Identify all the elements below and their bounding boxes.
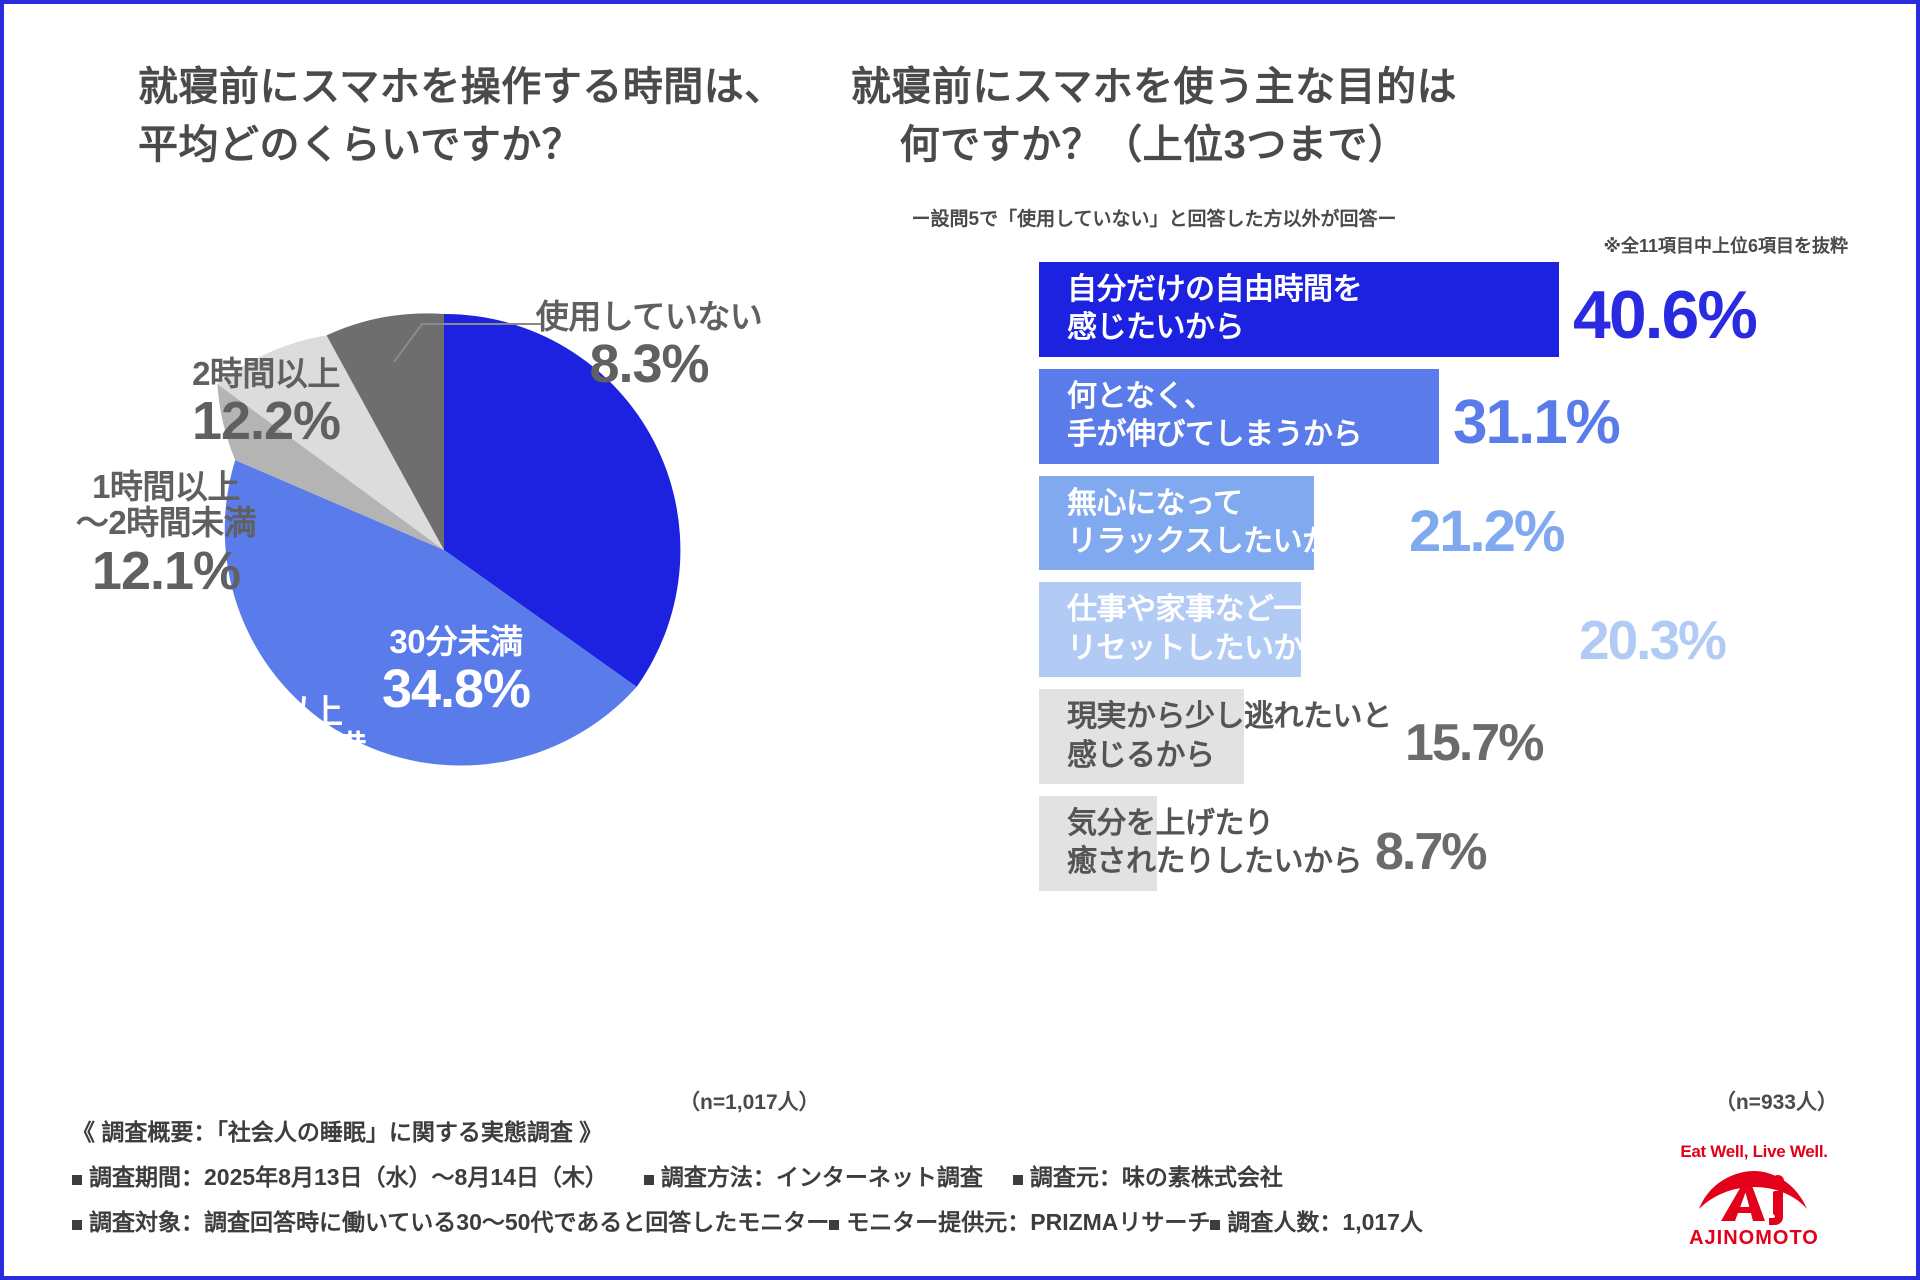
left-title-line1: 就寝前にスマホを操作する時間は、 [138, 58, 785, 116]
pie-label-30to60: 30分以上 ～1時間未満 32.6% [186, 694, 366, 826]
bullet-square-icon [1013, 1175, 1023, 1185]
bar-row-1: 自分だけの自由時間を 感じたいから 40.6% [1039, 262, 1894, 357]
right-subnote-1: ー設問5で「使用していない」と回答した方以外が回答ー [912, 204, 1397, 231]
right-question-title: 就寝前にスマホを使う主な目的は 何ですか？（上位3つまで） [851, 58, 1457, 174]
bar-value-2: 31.1% [1453, 387, 1619, 458]
bar-label-2: 何となく、 手が伸びてしまうから [1067, 378, 1362, 455]
pie-label-1to2: 1時間以上 ～2時間未満 12.1% [76, 469, 256, 601]
bar-row-3: 無心になって リラックスしたいから 21.2% [1039, 476, 1894, 571]
bar-value-6: 8.7% [1375, 822, 1486, 882]
footer-respondents: 調査人数：1,017人 [1210, 1203, 1423, 1237]
pie-label-30min: 30分未満 34.8% [382, 624, 530, 720]
bar-chart: 自分だけの自由時間を 感じたいから 40.6% 何となく、 手が伸びてしまうから… [1039, 262, 1894, 903]
pie-label-none: 使用していない 8.3% [536, 299, 763, 395]
infographic-page: 就寝前にスマホを操作する時間は、 平均どのくらいですか？ 就寝前にスマホを使う主… [0, 0, 1920, 1280]
bullet-square-icon [72, 1220, 82, 1230]
right-subnote-2: ※全11項目中上位6項目を抜粋 [1603, 232, 1848, 258]
bar-fill-2: 何となく、 手が伸びてしまうから [1039, 369, 1439, 464]
footer-period: 調査期間：2025年8月13日（水）～8月14日（木） [72, 1158, 608, 1192]
bar-label-5: 現実から少し逃れたいと 感じるから [1067, 698, 1392, 775]
footer-method: 調査方法：インターネット調査 [644, 1158, 983, 1192]
right-title-line2: 何ですか？（上位3つまで） [851, 116, 1457, 174]
bar-fill-1: 自分だけの自由時間を 感じたいから [1039, 262, 1559, 357]
bar-fill-4: 仕事や家事など一日のストレスを リセットしたいから [1039, 582, 1301, 677]
right-title-line1: 就寝前にスマホを使う主な目的は [851, 58, 1457, 116]
bar-value-3: 21.2% [1409, 498, 1563, 565]
bar-value-4: 20.3% [1579, 608, 1725, 672]
bullet-square-icon [1210, 1220, 1220, 1230]
left-title-line2: 平均どのくらいですか？ [138, 116, 785, 174]
footer-source: 調査元：味の素株式会社 [1013, 1158, 1283, 1192]
footer-heading: 《 調査概要：「社会人の睡眠」に関する実態調査 》 [72, 1113, 1372, 1147]
aji-mark-svg [1691, 1165, 1817, 1225]
logo-name: AJINOMOTO [1654, 1227, 1854, 1250]
bar-value-5: 15.7% [1405, 713, 1542, 773]
bullet-square-icon [644, 1175, 654, 1185]
footer-line-1: 調査期間：2025年8月13日（水）～8月14日（木） 調査方法：インターネット… [72, 1158, 1372, 1192]
bar-label-4: 仕事や家事など一日のストレスを リセットしたいから [1067, 591, 1510, 668]
pie-label-2plus: 2時間以上 12.2% [192, 356, 340, 452]
left-sample-size: （n=1,017人） [679, 1086, 820, 1116]
footer-survey-summary: 《 調査概要：「社会人の睡眠」に関する実態調査 》 調査期間：2025年8月13… [72, 1113, 1372, 1248]
logo-tagline: Eat Well, Live Well. [1654, 1142, 1854, 1162]
bullet-square-icon [829, 1220, 839, 1230]
right-sample-size: （n=933人） [1715, 1086, 1838, 1116]
bar-value-1: 40.6% [1573, 276, 1756, 354]
footer-target: 調査対象：調査回答時に働いている30～50代であると回答したモニター [72, 1203, 829, 1237]
footer-line-2: 調査対象：調査回答時に働いている30～50代であると回答したモニター モニター提… [72, 1203, 1372, 1237]
bullet-square-icon [72, 1175, 82, 1185]
footer-panel-provider: モニター提供元：PRIZMAリサーチ [829, 1203, 1210, 1237]
bar-fill-6: 気分を上げたり 癒されたりしたいから [1039, 796, 1157, 891]
bar-fill-3: 無心になって リラックスしたいから [1039, 476, 1314, 571]
bar-label-1: 自分だけの自由時間を 感じたいから [1067, 271, 1362, 348]
bar-label-6: 気分を上げたり 癒されたりしたいから [1067, 805, 1362, 882]
bar-row-5: 現実から少し逃れたいと 感じるから 15.7% [1039, 689, 1894, 784]
bar-row-6: 気分を上げたり 癒されたりしたいから 8.7% [1039, 796, 1894, 891]
bar-label-3: 無心になって リラックスしたいから [1067, 485, 1361, 562]
bar-row-2: 何となく、 手が伸びてしまうから 31.1% [1039, 369, 1894, 464]
bar-row-4: 仕事や家事など一日のストレスを リセットしたいから 20.3% [1039, 582, 1894, 677]
bar-fill-5: 現実から少し逃れたいと 感じるから [1039, 689, 1244, 784]
ajinomoto-logo: Eat Well, Live Well. AJINOMOTO [1654, 1142, 1854, 1250]
aji-logo-icon [1654, 1164, 1854, 1226]
left-question-title: 就寝前にスマホを操作する時間は、 平均どのくらいですか？ [138, 58, 785, 174]
